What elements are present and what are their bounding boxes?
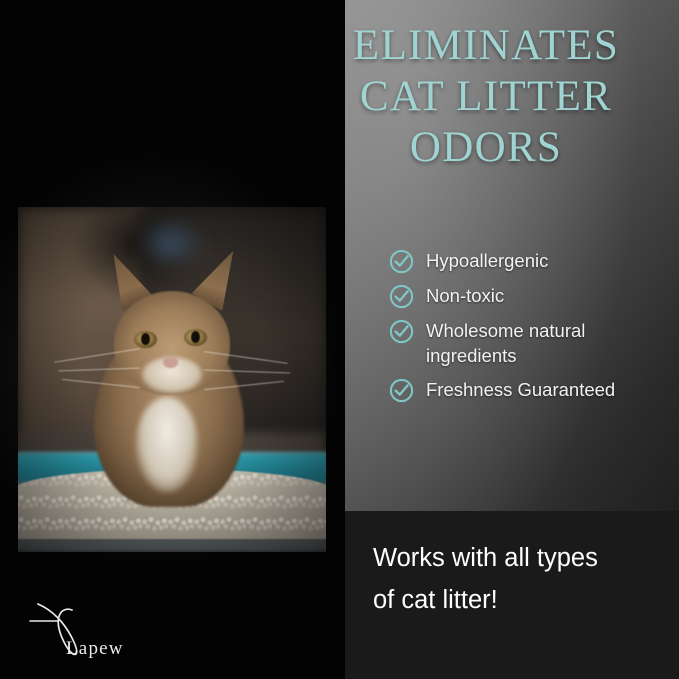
feature-label: Wholesome natural ingredients bbox=[426, 318, 658, 368]
feature-label: Freshness Guaranteed bbox=[426, 377, 615, 402]
photo-vignette bbox=[18, 207, 326, 552]
brand-name: Lapew bbox=[66, 638, 124, 660]
list-item: Hypoallergenic bbox=[389, 248, 674, 274]
headline-line-2: CAT LITTER bbox=[300, 71, 672, 122]
feature-label: Non-toxic bbox=[426, 283, 504, 308]
caption-text: Works with all types of cat litter! bbox=[373, 537, 663, 621]
product-ad-image: ELIMINATES CAT LITTER ODORS bbox=[0, 0, 679, 679]
check-circle-icon bbox=[389, 378, 414, 403]
headline: ELIMINATES CAT LITTER ODORS bbox=[300, 20, 672, 173]
caption-line-1: Works with all types bbox=[373, 537, 663, 579]
headline-line-1: ELIMINATES bbox=[300, 20, 672, 71]
list-item: Freshness Guaranteed bbox=[389, 377, 674, 403]
feature-label: Hypoallergenic bbox=[426, 248, 548, 273]
check-circle-icon bbox=[389, 284, 414, 309]
check-circle-icon bbox=[389, 249, 414, 274]
caption-line-2: of cat litter! bbox=[373, 579, 663, 621]
headline-line-3: ODORS bbox=[300, 122, 672, 173]
feature-list: Hypoallergenic Non-toxic Wholesome natur… bbox=[389, 248, 674, 412]
brand-logo: Lapew bbox=[28, 594, 178, 666]
check-circle-icon bbox=[389, 319, 414, 344]
kitten-litter-box-photo bbox=[18, 207, 326, 552]
list-item: Wholesome natural ingredients bbox=[389, 318, 674, 368]
photo-inner bbox=[18, 207, 326, 552]
list-item: Non-toxic bbox=[389, 283, 674, 309]
caption-panel: Works with all types of cat litter! bbox=[345, 511, 679, 679]
